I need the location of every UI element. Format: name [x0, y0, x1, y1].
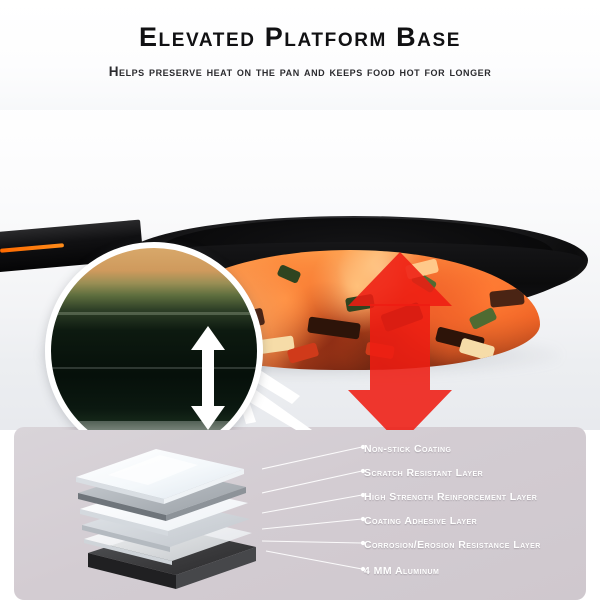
leader-line-3	[262, 495, 362, 513]
page-subtitle: Helps preserve heat on the pan and keeps…	[0, 64, 600, 79]
layer-label-high-strength-reinforcement-layer: High Strength Reinforcement Layer	[364, 491, 537, 503]
magnifier-pan-underside	[45, 312, 263, 315]
arrow-head-up-icon	[348, 252, 452, 306]
leader-line-5	[262, 541, 362, 543]
layer-label-scratch-resistant-layer: Scratch Resistant Layer	[364, 467, 483, 479]
page-title: Elevated Platform Base	[0, 22, 600, 53]
layer-construction-panel: Non-stick Coating Scratch Resistant Laye…	[14, 427, 586, 600]
magnifier-base-edge	[45, 367, 263, 369]
arrow-shaft	[370, 304, 430, 390]
layer-label-list: Non-stick Coating Scratch Resistant Laye…	[364, 435, 586, 595]
magnifier-height-arrow-icon	[191, 326, 225, 430]
leader-line-1	[262, 447, 362, 469]
exploded-layer-stack	[48, 435, 278, 595]
leader-line-2	[262, 471, 362, 493]
hero-photo-area	[0, 100, 600, 430]
magnifier-counter-surface	[45, 421, 263, 430]
layer-label-4-mm-aluminum: 4 MM Aluminum	[364, 565, 439, 577]
leader-line-4	[262, 519, 362, 529]
header-band: Elevated Platform Base Helps preserve he…	[0, 0, 600, 110]
layer-label-corrosion-erosion-resistance-layer: Corrosion/Erosion Resistance Layer	[364, 539, 541, 551]
leader-lines	[262, 433, 380, 593]
product-infographic: Elevated Platform Base Helps preserve he…	[0, 0, 600, 600]
leader-line-6	[266, 551, 362, 569]
elevation-arrow	[342, 250, 458, 430]
layer-label-coating-adhesive-layer: Coating Adhesive Layer	[364, 515, 477, 527]
arrow-head-down-icon	[348, 390, 452, 430]
layer-label-non-stick-coating: Non-stick Coating	[364, 443, 451, 455]
